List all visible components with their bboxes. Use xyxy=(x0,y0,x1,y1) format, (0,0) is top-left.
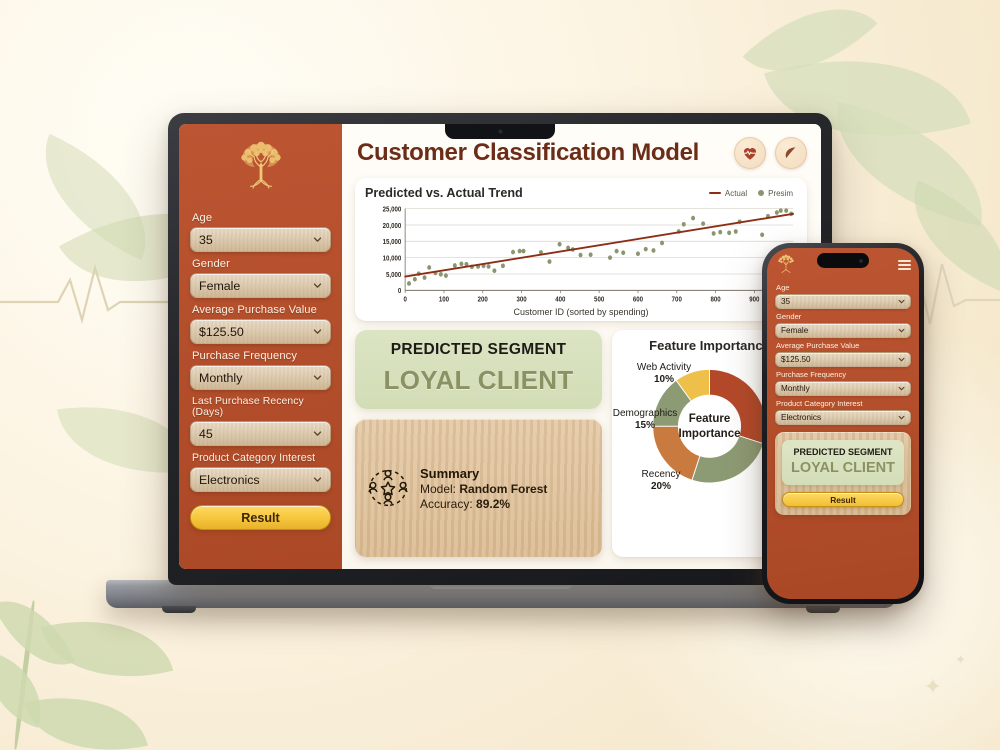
donut-label-demographics: Demographics 15% xyxy=(612,408,688,431)
tree-of-life-icon xyxy=(233,141,289,195)
summary-model-value: Random Forest xyxy=(459,482,547,496)
donut-label-recency: Recency 20% xyxy=(622,469,700,492)
phone-predicted-segment-value: LOYAL CLIENT xyxy=(786,460,900,476)
predicted-segment-label: PREDICTED SEGMENT xyxy=(365,341,592,359)
svg-text:200: 200 xyxy=(478,296,488,303)
sparkle-decoration-2: ✦ xyxy=(955,653,966,666)
age-value: 35 xyxy=(199,233,313,247)
legend-label-actual: Actual xyxy=(725,189,747,198)
summary-model-prefix: Model: xyxy=(420,482,459,496)
phone-mockup: Age 35 Gender Female Average Purchase Va… xyxy=(762,243,924,604)
donut-label-web-activity-name: Web Activity xyxy=(637,362,691,373)
lower-row: PREDICTED SEGMENT LOYAL CLIENT xyxy=(355,330,807,557)
chevron-down-icon xyxy=(898,414,905,421)
legend-item-actual: Actual xyxy=(709,189,747,198)
phone-average-purchase-value-select[interactable]: $125.50 xyxy=(775,352,911,367)
phone-field-product-category-interest: Product Category Interest Electronics xyxy=(775,396,911,425)
legend-dot-swatch xyxy=(758,190,764,196)
average-purchase-value-select[interactable]: $125.50 xyxy=(190,319,331,344)
last-purchase-recency-value: 45 xyxy=(199,427,313,441)
sidebar-field-gender: Gender Female xyxy=(190,252,331,298)
donut-label-web-activity: Web Activity 10% xyxy=(624,362,704,385)
sparkle-decoration: ✦ xyxy=(924,676,942,698)
field-label-last-purchase-recency: Last Purchase Recency (Days) xyxy=(192,396,331,418)
svg-text:800: 800 xyxy=(710,296,720,303)
phone-purchase-frequency-select[interactable]: Monthly xyxy=(775,381,911,396)
field-label-product-category-interest: Product Category Interest xyxy=(192,452,331,464)
chevron-down-icon xyxy=(898,298,905,305)
chevron-down-icon xyxy=(313,327,322,336)
sidebar-field-age: Age 35 xyxy=(190,206,331,252)
phone-result-panel: PREDICTED SEGMENT LOYAL CLIENT Result xyxy=(775,432,911,515)
hamburger-menu-icon[interactable] xyxy=(898,260,911,270)
laptop-foot-left xyxy=(162,606,196,613)
phone-screen: Age 35 Gender Female Average Purchase Va… xyxy=(767,248,919,599)
laptop-screen: Age 35 Gender Female Average Purchase Va… xyxy=(179,124,821,569)
trend-chart-plot: 05,00010,00015,00020,00025,000 010020030… xyxy=(365,202,797,308)
donut-label-demographics-name: Demographics xyxy=(613,408,677,419)
svg-text:400: 400 xyxy=(555,296,565,303)
phone-predicted-segment-card: PREDICTED SEGMENT LOYAL CLIENT xyxy=(782,440,904,485)
donut-label-recency-pct: 20% xyxy=(651,481,671,492)
field-label-gender: Gender xyxy=(192,258,331,270)
svg-text:15,000: 15,000 xyxy=(383,239,402,246)
legend-label-presim: Presim xyxy=(768,189,793,198)
page-title: Customer Classification Model xyxy=(357,139,725,167)
phone-gender-value: Female xyxy=(781,326,898,335)
summary-heading: Summary xyxy=(420,466,547,481)
summary-accuracy-row: Accuracy: 89.2% xyxy=(420,497,547,511)
summary-text: Summary Model: Random Forest Accuracy: 8… xyxy=(420,466,547,511)
summary-model-row: Model: Random Forest xyxy=(420,482,547,496)
heart-pulse-badge[interactable] xyxy=(734,137,766,169)
users-star-icon xyxy=(366,467,410,509)
phone-average-purchase-value-value: $125.50 xyxy=(781,355,898,364)
phone-frame: Age 35 Gender Female Average Purchase Va… xyxy=(762,243,924,604)
svg-text:900: 900 xyxy=(749,296,759,303)
trend-chart-title: Predicted vs. Actual Trend xyxy=(365,186,709,200)
laptop-foot-right xyxy=(806,606,840,613)
dynamic-island xyxy=(817,253,869,268)
laptop-mockup: Age 35 Gender Female Average Purchase Va… xyxy=(168,113,832,585)
phone-gender-select[interactable]: Female xyxy=(775,323,911,338)
sidebar-field-last-purchase-recency: Last Purchase Recency (Days) 45 xyxy=(190,390,331,446)
phone-camera-icon xyxy=(859,259,863,263)
purchase-frequency-value: Monthly xyxy=(199,371,313,385)
phone-field-gender: Gender Female xyxy=(775,309,911,338)
svg-text:100: 100 xyxy=(439,296,449,303)
app-main: Customer Classification Model xyxy=(342,124,821,569)
leaf-badge[interactable] xyxy=(775,137,807,169)
gender-value: Female xyxy=(199,279,313,293)
trend-chart-xlabel: Customer ID (sorted by spending) xyxy=(365,307,797,317)
last-purchase-recency-select[interactable]: 45 xyxy=(190,421,331,446)
field-label-age: Age xyxy=(192,212,331,224)
lower-left-column: PREDICTED SEGMENT LOYAL CLIENT xyxy=(355,330,602,557)
phone-product-category-interest-value: Electronics xyxy=(781,413,898,422)
phone-field-age: Age 35 xyxy=(775,280,911,309)
chevron-down-icon xyxy=(898,356,905,363)
chevron-down-icon xyxy=(313,235,322,244)
purchase-frequency-select[interactable]: Monthly xyxy=(190,365,331,390)
svg-text:0: 0 xyxy=(403,296,407,303)
field-label-average-purchase-value: Average Purchase Value xyxy=(192,304,331,316)
trend-chart-header: Predicted vs. Actual Trend Actual Presim xyxy=(365,186,797,200)
summary-accuracy-prefix: Accuracy: xyxy=(420,497,476,511)
svg-text:300: 300 xyxy=(516,296,526,303)
svg-text:700: 700 xyxy=(672,296,682,303)
svg-text:25,000: 25,000 xyxy=(383,206,402,213)
leaf-icon xyxy=(782,144,800,162)
chevron-down-icon xyxy=(313,429,322,438)
phone-label-purchase-frequency: Purchase Frequency xyxy=(776,370,911,379)
laptop-lid: Age 35 Gender Female Average Purchase Va… xyxy=(168,113,832,585)
phone-age-value: 35 xyxy=(781,297,898,306)
donut-label-recency-name: Recency xyxy=(642,469,681,480)
chevron-down-icon xyxy=(898,327,905,334)
phone-label-age: Age xyxy=(776,283,911,292)
average-purchase-value-value: $125.50 xyxy=(199,325,313,339)
sidebar-logo xyxy=(190,141,331,195)
heart-pulse-icon xyxy=(741,144,759,162)
phone-label-product-category-interest: Product Category Interest xyxy=(776,399,911,408)
summary-card: Summary Model: Random Forest Accuracy: 8… xyxy=(355,419,602,557)
trend-chart-card: Predicted vs. Actual Trend Actual Presim xyxy=(355,178,807,321)
phone-label-gender: Gender xyxy=(776,312,911,321)
legend-item-presim: Presim xyxy=(758,189,793,198)
gender-select[interactable]: Female xyxy=(190,273,331,298)
product-category-interest-select[interactable]: Electronics xyxy=(190,467,331,492)
legend-line-swatch xyxy=(709,192,721,195)
svg-text:20,000: 20,000 xyxy=(383,222,402,229)
chevron-down-icon xyxy=(313,373,322,382)
result-button[interactable]: Result xyxy=(190,505,331,530)
svg-text:500: 500 xyxy=(594,296,604,303)
svg-text:0: 0 xyxy=(398,288,402,295)
app-header: Customer Classification Model xyxy=(355,137,807,169)
svg-text:5,000: 5,000 xyxy=(386,272,402,279)
phone-product-category-interest-select[interactable]: Electronics xyxy=(775,410,911,425)
chevron-down-icon xyxy=(313,475,322,484)
tree-of-life-icon xyxy=(775,254,797,276)
donut-label-web-activity-pct: 10% xyxy=(654,374,674,385)
product-category-interest-value: Electronics xyxy=(199,473,313,487)
webcam-icon xyxy=(498,129,503,134)
phone-result-button[interactable]: Result xyxy=(782,492,904,507)
trend-chart-svg: 05,00010,00015,00020,00025,000 010020030… xyxy=(365,202,797,308)
predicted-segment-value: LOYAL CLIENT xyxy=(365,365,592,396)
laptop-camera-notch xyxy=(445,124,555,139)
phone-field-purchase-frequency: Purchase Frequency Monthly xyxy=(775,367,911,396)
sidebar-field-purchase-frequency: Purchase Frequency Monthly xyxy=(190,344,331,390)
svg-text:600: 600 xyxy=(633,296,643,303)
app-sidebar: Age 35 Gender Female Average Purchase Va… xyxy=(179,124,342,569)
predicted-segment-card: PREDICTED SEGMENT LOYAL CLIENT xyxy=(355,330,602,409)
sidebar-field-average-purchase-value: Average Purchase Value $125.50 xyxy=(190,298,331,344)
phone-predicted-segment-label: PREDICTED SEGMENT xyxy=(786,447,900,457)
phone-purchase-frequency-value: Monthly xyxy=(781,384,898,393)
phone-field-average-purchase-value: Average Purchase Value $125.50 xyxy=(775,338,911,367)
trend-chart-legend: Actual Presim xyxy=(709,189,797,198)
phone-label-average-purchase-value: Average Purchase Value xyxy=(776,341,911,350)
svg-text:10,000: 10,000 xyxy=(383,255,402,262)
donut-label-demographics-pct: 15% xyxy=(635,420,655,431)
sidebar-field-product-category-interest: Product Category Interest Electronics xyxy=(190,446,331,492)
chevron-down-icon xyxy=(313,281,322,290)
field-label-purchase-frequency: Purchase Frequency xyxy=(192,350,331,362)
chevron-down-icon xyxy=(898,385,905,392)
phone-age-select[interactable]: 35 xyxy=(775,294,911,309)
donut-slice xyxy=(692,436,763,483)
age-select[interactable]: 35 xyxy=(190,227,331,252)
summary-accuracy-value: 89.2% xyxy=(476,497,510,511)
